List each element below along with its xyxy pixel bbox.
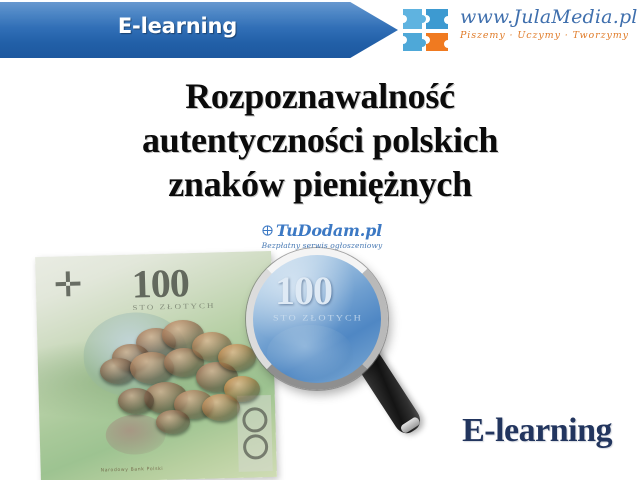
logo-text-block: www.JulaMedia.pl Piszemy · Uczymy · Twor… (460, 5, 638, 43)
banknote-microtext: Narodowy Bank Polski (101, 467, 164, 474)
coin (118, 388, 154, 414)
slide-canvas: E-learning www.JulaMedia.pl Piszemy · Uc… (0, 0, 640, 480)
watermark-name: TuDodam.pl (276, 221, 382, 240)
footer-elearning-label: E-learning (462, 412, 612, 450)
logo-tagline-text: Piszemy · Uczymy · Tworzymy (460, 29, 638, 43)
globe-crosshair-icon (262, 225, 273, 236)
title-line-2: autentyczności polskich (30, 118, 610, 162)
banknote-currency-word: STO ZŁOTYCH (132, 301, 215, 311)
slide-header: E-learning www.JulaMedia.pl Piszemy · Uc… (0, 0, 640, 62)
lens-denomination: 100 (275, 267, 332, 314)
header-banner-label: E-learning (0, 14, 355, 38)
lens-currency-word: STO ZŁOTYCH (273, 314, 363, 323)
julamedia-logo[interactable]: www.JulaMedia.pl Piszemy · Uczymy · Twor… (398, 3, 640, 58)
coin (202, 394, 240, 421)
banknote-cross-mark: ✛ (53, 270, 82, 301)
slide-title: Rozpoznawalność autentyczności polskich … (30, 74, 610, 206)
coin-pile (100, 318, 270, 438)
money-photo: ✛ 100 STO ZŁOTYCH Narodowy Bank Polski 1… (28, 232, 408, 480)
title-line-3: znaków pieniężnych (30, 162, 610, 206)
magnifier-lens: 100 STO ZŁOTYCH (246, 248, 388, 390)
magnifying-glass: 100 STO ZŁOTYCH (246, 248, 418, 442)
title-line-1: Rozpoznawalność (30, 74, 610, 118)
banknote-denomination: 100 (131, 259, 189, 307)
coin (156, 410, 190, 434)
tudodam-watermark: TuDodam.pl Bezpłatny serwis ogłoszeniowy (258, 221, 386, 250)
watermark-subtitle: Bezpłatny serwis ogłoszeniowy (258, 241, 386, 250)
puzzle-icon (400, 6, 456, 54)
watermark-row: TuDodam.pl (258, 221, 386, 240)
logo-url-text: www.JulaMedia.pl (460, 5, 638, 29)
lens-portrait (267, 325, 353, 381)
